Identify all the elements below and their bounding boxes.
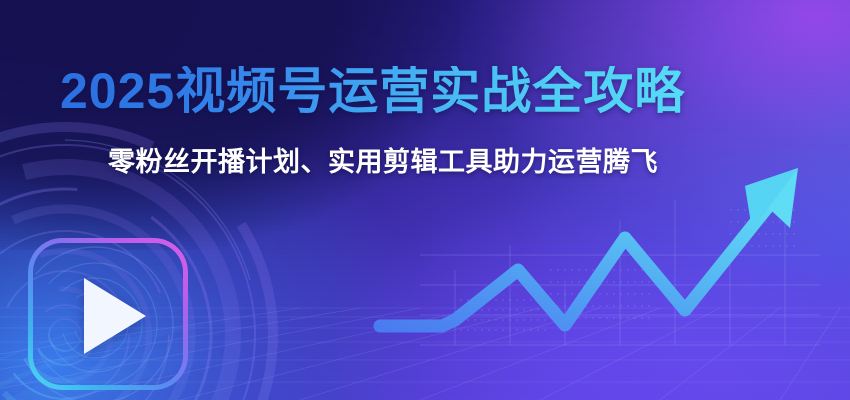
- play-triangle-glyph: [84, 278, 146, 354]
- page-subtitle: 零粉丝开播计划、实用剪辑工具助力运营腾飞: [108, 140, 658, 179]
- play-icon[interactable]: [28, 238, 188, 390]
- promo-banner: 2025视频号运营实战全攻略 零粉丝开播计划、实用剪辑工具助力运营腾飞: [0, 0, 850, 400]
- page-title: 2025视频号运营实战全攻略: [60, 66, 685, 116]
